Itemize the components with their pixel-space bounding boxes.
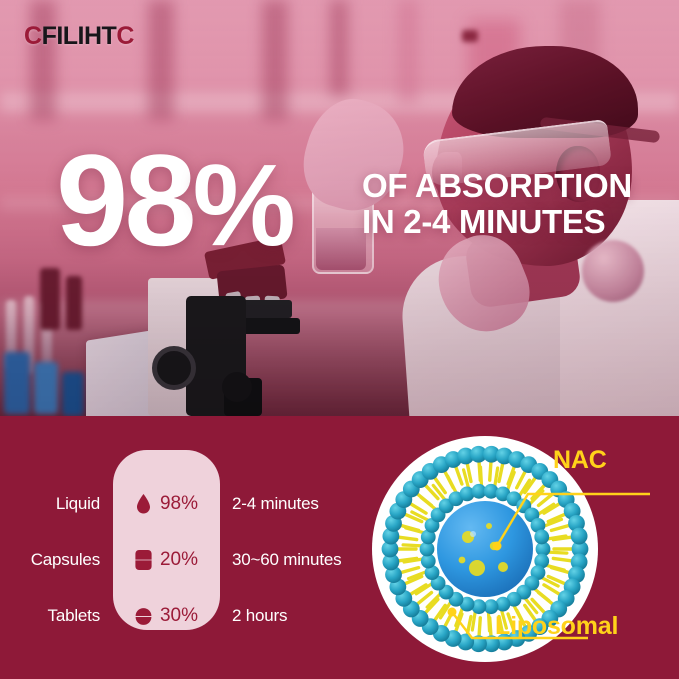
table-row: Tablets 30% 2 hours xyxy=(0,596,360,636)
nac-leader-line xyxy=(497,494,650,546)
background-blur-bar xyxy=(330,0,348,96)
label-nac: NAC xyxy=(553,446,607,475)
dark-vial xyxy=(66,276,82,330)
row-time-value: 2 hours xyxy=(220,606,287,626)
lab-photo-panel xyxy=(0,0,679,416)
blurred-glassware xyxy=(582,240,644,302)
row-absorption-value: 30% xyxy=(160,605,198,627)
table-row: Liquid 98% 2-4 minutes xyxy=(0,484,360,524)
row-form-label: Liquid xyxy=(0,494,113,514)
tablet-icon xyxy=(135,605,152,627)
nac-anchor-dot xyxy=(493,542,501,550)
background-marker xyxy=(462,30,478,42)
row-time-value: 2-4 minutes xyxy=(220,494,319,514)
beaker-liquid xyxy=(316,228,366,270)
brand-logo-middle: FILIHT xyxy=(42,22,117,50)
reagent-bottle xyxy=(62,372,84,416)
row-absorption-value: 20% xyxy=(160,549,198,571)
brand-logo[interactable]: CFILIHTC xyxy=(24,22,134,51)
background-blur-bar xyxy=(30,0,56,120)
liposomal-anchor-dot xyxy=(448,608,456,616)
row-absorption-value: 98% xyxy=(160,493,198,515)
absorption-comparison: Liquid 98% 2-4 minutes Capsules xyxy=(0,416,360,679)
background-blur-bar xyxy=(262,0,288,120)
liposome-diagram: NAC Liposomal xyxy=(360,416,679,679)
row-absorption-cell: 20% xyxy=(113,549,220,571)
brand-logo-suffix: C xyxy=(116,22,134,50)
comparison-panel: Liquid 98% 2-4 minutes Capsules xyxy=(0,416,679,679)
capsule-icon xyxy=(135,549,152,571)
reagent-bottle xyxy=(34,362,58,414)
dark-vial xyxy=(40,268,60,330)
row-time-value: 30~60 minutes xyxy=(220,550,341,570)
droplet-icon xyxy=(135,493,152,515)
microscope-condenser-knob xyxy=(222,372,252,402)
table-row: Capsules 20% 30~60 minutes xyxy=(0,540,360,580)
brand-logo-prefix: C xyxy=(24,22,42,50)
background-blur-bar xyxy=(148,0,174,120)
row-form-label: Capsules xyxy=(0,550,113,570)
row-absorption-cell: 30% xyxy=(113,605,220,627)
microscope-focus-knob xyxy=(152,346,196,390)
label-liposomal: Liposomal xyxy=(495,612,618,641)
row-absorption-cell: 98% xyxy=(113,493,220,515)
product-infographic: CFILIHTC 98% OF ABSORPTION IN 2-4 MINUTE… xyxy=(0,0,679,679)
row-form-label: Tablets xyxy=(0,606,113,626)
reagent-bottle xyxy=(4,352,30,414)
background-blur-bar xyxy=(398,0,418,104)
comparison-rows: Liquid 98% 2-4 minutes Capsules xyxy=(0,416,360,679)
